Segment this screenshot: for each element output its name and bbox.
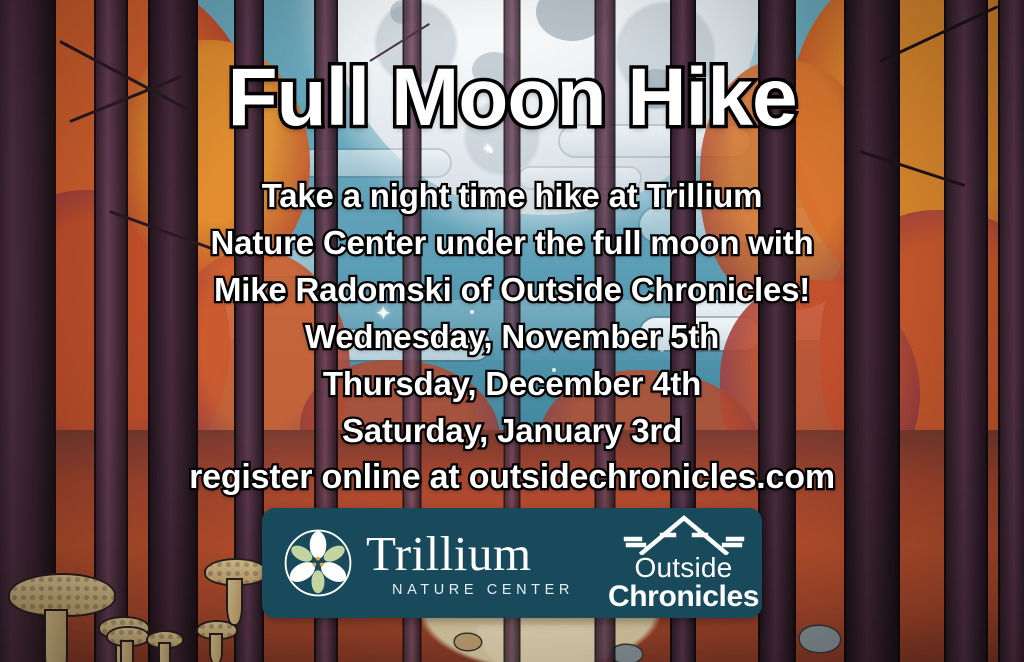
outside-chronicles-logo[interactable]: Outside Chronicles (608, 515, 759, 612)
body-line: Mike Radomski of Outside Chronicles! (0, 266, 1024, 313)
date-line: Saturday, January 3rd (0, 407, 1024, 454)
trillium-flower-emblem (282, 527, 354, 599)
date-line: Thursday, December 4th (0, 360, 1024, 407)
trillium-wordmark: Trillium NATURE CENTER (366, 529, 574, 598)
date-line: Wednesday, November 5th (0, 313, 1024, 360)
outside-label: Outside (635, 554, 733, 581)
mountain-range-icon (618, 515, 750, 555)
registration-line: register online at outsidechronicles.com (0, 454, 1024, 501)
body-line: Take a night time hike at Trillium (0, 172, 1024, 219)
full-moon-hike-poster: ✦ ✦ ✦ ✦ (0, 0, 1024, 662)
trillium-logo[interactable]: Trillium NATURE CENTER (282, 527, 574, 599)
trillium-subtitle: NATURE CENTER (392, 582, 574, 598)
body-line: Nature Center under the full moon with (0, 219, 1024, 266)
poster-content: Full Moon Hike Take a night time hike at… (0, 0, 1024, 662)
trillium-name: Trillium (366, 529, 574, 579)
logo-bar: Trillium NATURE CENTER Outside Chronicle… (262, 508, 762, 618)
chronicles-label: Chronicles (608, 581, 759, 612)
page-title: Full Moon Hike (0, 51, 1024, 145)
poster-body-text: Take a night time hike at Trillium Natur… (0, 172, 1024, 501)
